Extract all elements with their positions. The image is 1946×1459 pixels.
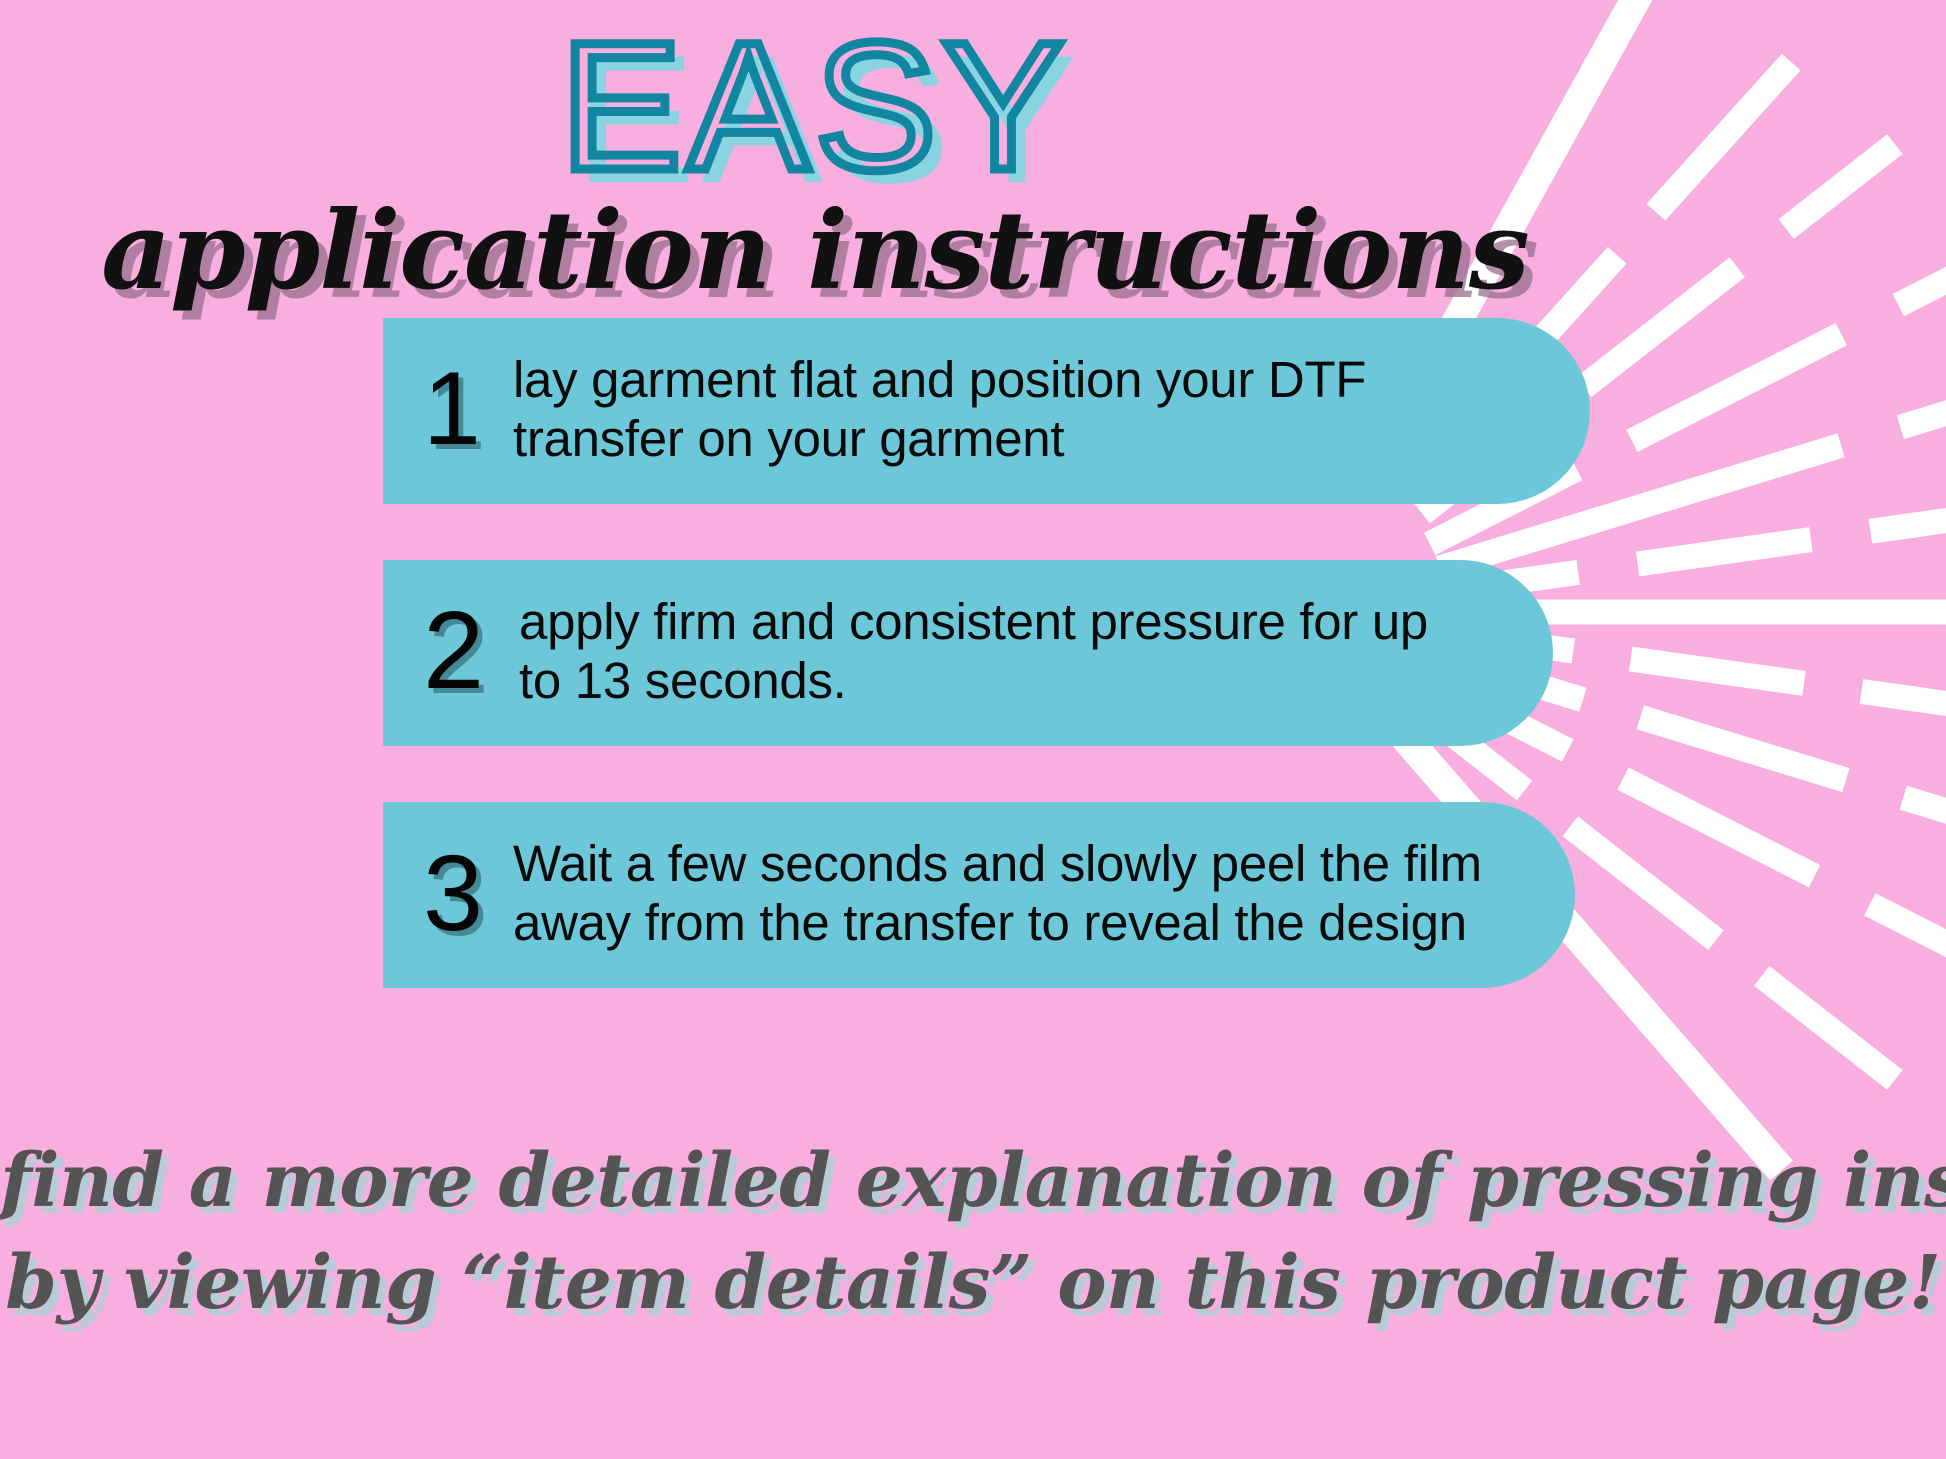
step-number-2: 2 [423,596,513,706]
footer-note: find a more detailed explanation of pres… [0,1130,1946,1334]
footer-line-1: find a more detailed explanation of pres… [0,1130,1946,1232]
step-number-3: 3 [423,839,513,947]
step-item-1: 1 lay garment flat and position your DTF… [383,318,1590,504]
footer-line-2: by viewing “item details” on this produc… [0,1232,1946,1334]
title-block: EASY application instructions [0,0,1630,308]
step-item-2: 2 apply firm and consistent pressure for… [383,560,1553,746]
step-number-1: 1 [423,357,513,461]
step-text-1: lay garment flat and position your DTF t… [513,350,1520,468]
steps-list: 1 lay garment flat and position your DTF… [383,318,1593,988]
step-text-2: apply firm and consistent pressure for u… [513,592,1483,710]
step-text-3: Wait a few seconds and slowly peel the f… [513,834,1505,952]
page-subtitle: application instructions [0,194,1630,308]
page-title: EASY [0,14,1630,200]
step-item-3: 3 Wait a few seconds and slowly peel the… [383,802,1575,988]
